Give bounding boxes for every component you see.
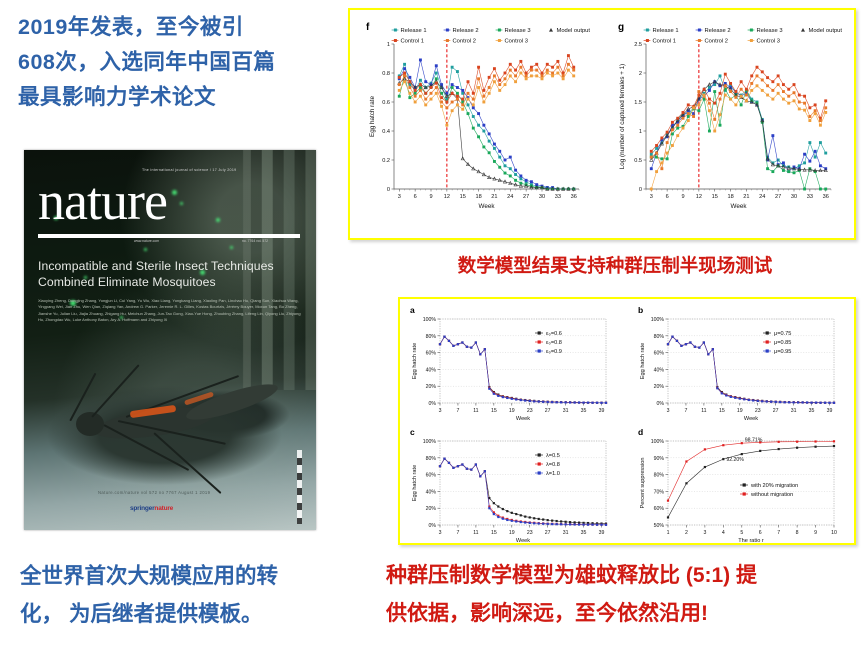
data-marker xyxy=(582,523,584,525)
data-marker xyxy=(456,86,459,89)
data-marker xyxy=(797,401,799,403)
data-marker xyxy=(470,468,472,470)
series-line xyxy=(668,337,834,403)
data-marker xyxy=(565,523,567,525)
data-marker xyxy=(509,156,512,159)
data-marker xyxy=(798,108,801,111)
data-marker xyxy=(538,400,540,402)
data-marker xyxy=(398,83,401,86)
data-marker xyxy=(440,101,443,104)
data-marker xyxy=(578,523,580,525)
data-marker xyxy=(541,74,544,77)
data-marker xyxy=(466,468,468,470)
data-marker xyxy=(541,72,544,75)
y-tick-label: 20% xyxy=(426,384,437,390)
y-tick-label: 60% xyxy=(426,473,437,479)
data-marker xyxy=(414,95,417,98)
data-marker xyxy=(456,70,459,73)
data-marker xyxy=(703,341,705,343)
data-marker xyxy=(403,80,406,83)
x-tick-label: 8 xyxy=(796,530,799,536)
x-tick-label: 11 xyxy=(473,408,478,414)
data-marker xyxy=(782,90,785,93)
data-marker xyxy=(560,520,562,522)
data-marker xyxy=(596,402,598,404)
data-marker xyxy=(556,72,559,75)
data-marker xyxy=(740,80,743,83)
x-tick-label: 9 xyxy=(429,194,432,200)
data-marker xyxy=(756,84,759,87)
x-tick-label: 12 xyxy=(696,194,702,200)
x-tick-label: 27 xyxy=(545,530,551,536)
data-marker xyxy=(660,167,663,170)
mosquito-head xyxy=(76,412,104,436)
data-marker xyxy=(698,346,700,348)
plot-f: 36912151821242730333600.20.40.60.81WeekE… xyxy=(369,42,579,210)
legend-marker xyxy=(696,29,703,32)
data-marker xyxy=(719,98,722,101)
data-marker xyxy=(509,175,512,178)
panel-letter-g: g xyxy=(618,22,624,33)
data-marker xyxy=(824,152,827,155)
data-marker xyxy=(451,66,454,69)
data-marker xyxy=(439,465,441,467)
data-marker xyxy=(793,99,796,102)
data-marker xyxy=(533,517,535,519)
legend-label: without migration xyxy=(750,492,793,498)
data-marker xyxy=(729,98,732,101)
data-marker xyxy=(573,523,575,525)
y-tick-label: 70% xyxy=(654,489,665,495)
masthead-rule-right-text: no. 7764 vol. 572 xyxy=(242,239,268,243)
data-marker xyxy=(741,442,743,444)
data-marker xyxy=(819,141,822,144)
y-tick-label: 40% xyxy=(654,367,665,373)
x-axis-label: Week xyxy=(744,416,758,422)
data-marker xyxy=(506,397,508,399)
data-marker xyxy=(419,83,422,86)
data-marker xyxy=(456,95,459,98)
data-marker xyxy=(778,441,780,443)
cover-author-list: Xiaoying Zheng, Dongjing Zhang, Yongjun … xyxy=(38,298,304,324)
data-marker xyxy=(414,101,417,104)
data-marker xyxy=(567,54,570,57)
data-marker xyxy=(475,341,477,343)
x-tick-label: 24 xyxy=(507,194,513,200)
data-marker xyxy=(560,401,562,403)
data-marker xyxy=(519,66,522,69)
data-marker xyxy=(493,147,496,150)
data-marker xyxy=(775,401,777,403)
x-tick-label: 15 xyxy=(712,194,718,200)
legend-triangle-icon xyxy=(549,28,553,32)
data-marker xyxy=(424,80,427,83)
x-tick-label: 7 xyxy=(457,530,460,536)
x-tick-label: 35 xyxy=(809,408,815,414)
series-line xyxy=(399,56,573,102)
data-marker xyxy=(482,130,485,133)
x-tick-label: 18 xyxy=(727,194,733,200)
legend-label: μ=0.85 xyxy=(774,340,791,346)
data-marker xyxy=(671,121,674,124)
data-marker xyxy=(722,444,724,446)
legend-label: Release 3 xyxy=(505,28,531,34)
data-marker xyxy=(793,91,796,94)
data-marker xyxy=(745,99,748,102)
data-marker xyxy=(547,523,549,525)
legend-label: Control 1 xyxy=(653,39,677,45)
legend-square-icon xyxy=(538,462,541,465)
data-marker xyxy=(770,401,772,403)
y-tick-label: 0.4 xyxy=(382,129,390,135)
page-title: 2019年发表，至今被引 608次，入选同年中国百篇 最具影响力学术论文 xyxy=(18,10,348,115)
data-marker xyxy=(796,447,798,449)
data-marker xyxy=(824,188,827,191)
data-marker xyxy=(704,466,706,468)
y-tick-label: 0.2 xyxy=(382,158,390,164)
x-tick-label: 19 xyxy=(737,408,743,414)
data-marker xyxy=(419,89,422,92)
x-tick-label: 6 xyxy=(414,194,417,200)
legend-square-icon xyxy=(698,39,701,42)
data-marker xyxy=(704,448,706,450)
legend-square-icon xyxy=(538,349,541,352)
data-marker xyxy=(451,101,454,104)
data-marker xyxy=(719,113,722,116)
data-marker xyxy=(779,401,781,403)
data-marker xyxy=(771,170,774,173)
x-tick-label: 31 xyxy=(563,408,569,414)
data-marker xyxy=(833,445,835,447)
data-marker xyxy=(761,400,763,402)
data-marker xyxy=(808,119,811,122)
data-marker xyxy=(448,340,450,342)
y-axis-label: Egg hatch rate xyxy=(640,343,646,379)
y-tick-label: 100% xyxy=(423,317,437,323)
data-marker xyxy=(750,82,753,85)
data-marker xyxy=(787,102,790,105)
data-marker xyxy=(530,74,533,77)
y-tick-label: 100% xyxy=(651,439,665,445)
data-marker xyxy=(456,98,459,101)
series-line xyxy=(668,337,834,403)
data-marker xyxy=(814,156,817,159)
x-tick-label: 9 xyxy=(681,194,684,200)
x-tick-label: 3 xyxy=(439,408,442,414)
data-marker xyxy=(801,401,803,403)
data-marker xyxy=(403,72,406,75)
data-marker xyxy=(511,512,513,514)
masthead-rule xyxy=(38,234,300,238)
data-marker xyxy=(750,74,753,77)
x-tick-label: 30 xyxy=(791,194,797,200)
data-marker xyxy=(504,159,507,162)
data-marker xyxy=(708,130,711,133)
data-marker xyxy=(724,94,727,97)
legend-square-icon xyxy=(698,29,701,32)
y-tick-label: 100% xyxy=(651,317,665,323)
data-marker xyxy=(713,90,716,93)
data-marker xyxy=(803,95,806,98)
data-marker xyxy=(771,134,774,137)
data-marker xyxy=(547,519,549,521)
x-tick-label: 7 xyxy=(457,408,460,414)
data-marker xyxy=(806,401,808,403)
legend-label: with 20% migration xyxy=(750,483,798,489)
data-marker xyxy=(546,69,549,72)
data-marker xyxy=(600,402,602,404)
data-marker xyxy=(477,124,480,127)
data-marker xyxy=(538,522,540,524)
data-marker xyxy=(498,150,501,153)
data-marker xyxy=(519,60,522,63)
data-marker xyxy=(803,153,806,156)
legend-square-icon xyxy=(766,331,769,334)
x-tick-label: 11 xyxy=(701,408,706,414)
y-tick-label: 0% xyxy=(429,523,437,529)
x-tick-label: 4 xyxy=(722,530,725,536)
data-marker xyxy=(572,69,575,72)
legend-triangle-icon xyxy=(801,28,805,32)
data-marker xyxy=(533,400,535,402)
data-marker xyxy=(743,398,745,400)
data-marker xyxy=(482,95,485,98)
footer-right-line-1: 种群压制数学模型为雄蚊释放比 (5:1) 提 xyxy=(386,557,856,595)
data-marker xyxy=(660,137,663,140)
cover-article-title: Incompatible and Sterile Insect Techniqu… xyxy=(38,258,300,290)
y-tick-label: 0 xyxy=(387,187,390,193)
data-marker xyxy=(467,112,470,115)
data-marker xyxy=(667,500,669,502)
data-marker xyxy=(398,95,401,98)
data-marker xyxy=(529,516,531,518)
y-tick-label: 2.5 xyxy=(634,42,642,48)
panel-letter-b: b xyxy=(638,305,643,315)
data-marker xyxy=(530,180,533,183)
series-line xyxy=(440,337,606,403)
x-tick-label: 6 xyxy=(759,530,762,536)
data-marker xyxy=(514,74,517,77)
data-marker xyxy=(793,171,796,174)
data-marker xyxy=(687,119,690,122)
x-tick-label: 21 xyxy=(491,194,497,200)
data-marker xyxy=(761,79,764,82)
data-marker xyxy=(445,124,448,127)
legend-square-icon xyxy=(750,29,753,32)
legend-label: ε₀=0.9 xyxy=(546,349,562,355)
data-marker xyxy=(759,450,761,452)
y-tick-label: 20% xyxy=(654,384,665,390)
data-marker xyxy=(524,399,526,401)
data-marker xyxy=(814,112,817,115)
y-tick-label: 50% xyxy=(654,523,665,529)
data-marker xyxy=(721,392,723,394)
legend-square-icon xyxy=(538,340,541,343)
data-marker xyxy=(682,117,685,120)
data-marker xyxy=(542,401,544,403)
data-marker xyxy=(796,441,798,443)
data-marker xyxy=(676,124,679,127)
legend-marker xyxy=(549,28,553,32)
data-marker xyxy=(547,401,549,403)
x-tick-label: 7 xyxy=(685,408,688,414)
x-tick-label: 36 xyxy=(571,194,577,200)
data-marker xyxy=(808,106,811,109)
data-marker xyxy=(814,440,816,442)
x-tick-label: 27 xyxy=(545,408,551,414)
data-marker xyxy=(655,170,658,173)
legend-label: Control 1 xyxy=(401,39,425,45)
legend-marker xyxy=(496,39,503,42)
data-marker xyxy=(542,523,544,525)
data-marker xyxy=(456,92,459,95)
plot-frame xyxy=(440,441,606,525)
data-marker xyxy=(703,94,706,97)
data-marker xyxy=(803,161,806,164)
data-marker xyxy=(682,111,685,114)
data-marker xyxy=(467,98,470,101)
x-tick-label: 7 xyxy=(777,530,780,536)
data-marker xyxy=(509,167,512,170)
plot-g: 36912151821242730333600.511.522.5WeekLog… xyxy=(619,42,831,210)
legend-label: ε₀=0.6 xyxy=(546,331,562,337)
data-marker xyxy=(477,86,480,89)
y-tick-label: 80% xyxy=(426,334,437,340)
x-tick-label: 39 xyxy=(599,530,605,536)
data-marker xyxy=(729,90,732,93)
data-marker xyxy=(655,147,658,150)
data-marker xyxy=(509,69,512,72)
data-marker xyxy=(771,89,774,92)
data-marker xyxy=(403,67,406,70)
data-marker xyxy=(676,340,678,342)
x-axis-label: The ratio r xyxy=(738,538,764,542)
x-tick-label: 3 xyxy=(703,530,706,536)
data-marker xyxy=(666,141,669,144)
data-marker xyxy=(572,74,575,77)
legend-marker xyxy=(644,39,651,42)
data-marker xyxy=(498,79,501,82)
data-marker xyxy=(472,115,475,118)
legend-square-icon xyxy=(394,29,397,32)
data-marker xyxy=(708,98,711,101)
y-tick-label: 60% xyxy=(426,351,437,357)
data-marker xyxy=(756,74,759,77)
data-marker xyxy=(493,67,496,70)
data-marker xyxy=(451,92,454,95)
data-marker xyxy=(833,440,835,442)
y-axis-label: Egg hatch rate xyxy=(412,465,418,501)
data-marker xyxy=(605,402,607,404)
data-marker xyxy=(724,84,727,87)
legend-square-icon xyxy=(538,453,541,456)
x-tick-label: 27 xyxy=(773,408,779,414)
data-marker xyxy=(479,353,481,355)
legend-label: μ=0.95 xyxy=(774,349,791,355)
data-marker xyxy=(819,124,822,127)
data-marker xyxy=(650,153,653,156)
data-marker xyxy=(697,103,700,106)
legend-label: Release 3 xyxy=(757,28,783,34)
data-marker xyxy=(493,513,495,515)
data-marker xyxy=(419,79,422,82)
data-marker xyxy=(538,518,540,520)
data-marker xyxy=(514,169,517,172)
value-annotation: 98.71% xyxy=(745,438,763,444)
data-marker xyxy=(716,387,718,389)
x-tick-label: 21 xyxy=(743,194,749,200)
data-marker xyxy=(708,102,711,105)
data-marker xyxy=(515,520,517,522)
data-marker xyxy=(498,156,501,159)
x-tick-label: 33 xyxy=(555,194,561,200)
y-tick-label: 90% xyxy=(654,456,665,462)
data-marker xyxy=(519,72,522,75)
series-line xyxy=(399,60,573,189)
data-marker xyxy=(777,92,780,95)
panel-letter-c: c xyxy=(410,427,415,437)
data-marker xyxy=(828,402,830,404)
data-marker xyxy=(722,458,724,460)
data-marker xyxy=(525,74,528,77)
data-marker xyxy=(502,396,504,398)
data-marker xyxy=(448,462,450,464)
data-marker xyxy=(761,89,764,92)
legend-label: λ=0.5 xyxy=(546,453,560,459)
data-marker xyxy=(551,401,553,403)
data-marker xyxy=(803,102,806,105)
data-marker xyxy=(530,69,533,72)
data-marker xyxy=(808,141,811,144)
data-marker xyxy=(803,109,806,112)
data-marker xyxy=(582,402,584,404)
data-marker xyxy=(457,343,459,345)
data-marker xyxy=(725,394,727,396)
y-tick-label: 0.8 xyxy=(382,71,390,77)
data-marker xyxy=(430,86,433,89)
data-marker xyxy=(824,99,827,102)
data-marker xyxy=(600,524,602,526)
masthead-rule-left-text: www.nature.com xyxy=(134,239,159,243)
data-marker xyxy=(525,179,528,182)
data-marker xyxy=(451,86,454,89)
data-marker xyxy=(457,465,459,467)
data-marker xyxy=(734,103,737,106)
data-marker xyxy=(565,521,567,523)
legend-label: Model output xyxy=(809,28,843,34)
series-line xyxy=(440,337,606,403)
legend-marker xyxy=(748,39,755,42)
data-marker xyxy=(556,520,558,522)
plot-frame xyxy=(440,319,606,403)
legend-label: Release 2 xyxy=(705,28,731,34)
data-marker xyxy=(782,169,785,172)
data-marker xyxy=(680,345,682,347)
x-tick-label: 15 xyxy=(460,194,466,200)
slide-root: 2019年发表，至今被引 608次，入选同年中国百篇 最具影响力学术论文 xyxy=(0,0,861,645)
data-marker xyxy=(719,92,722,95)
data-marker xyxy=(660,157,663,160)
y-tick-label: 0 xyxy=(639,187,642,193)
data-marker xyxy=(445,106,448,109)
data-marker xyxy=(782,98,785,101)
data-marker xyxy=(424,92,427,95)
x-tick-label: 27 xyxy=(775,194,781,200)
series-line xyxy=(668,446,834,517)
headline-line-1: 2019年发表，至今被引 xyxy=(18,10,348,45)
glow-dot xyxy=(144,248,147,251)
data-marker xyxy=(506,519,508,521)
